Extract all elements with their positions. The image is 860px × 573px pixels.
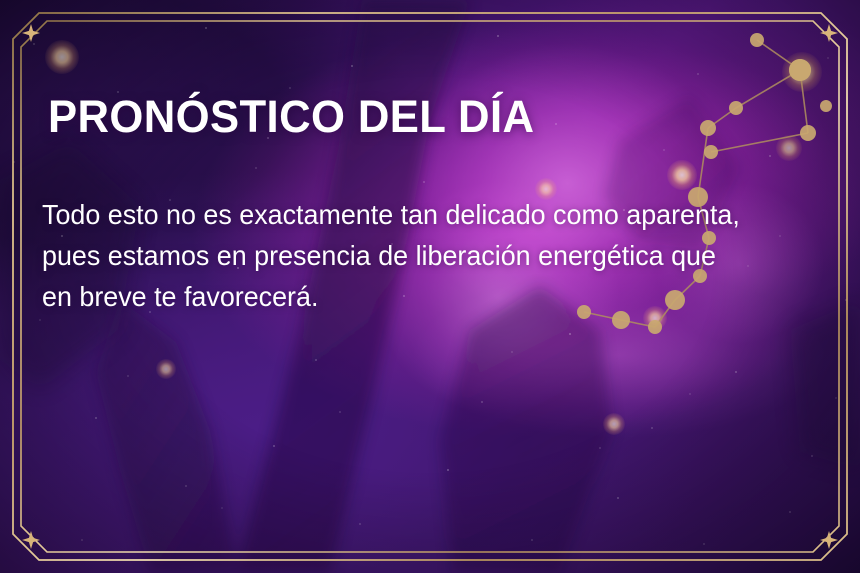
constellation-line xyxy=(757,40,800,70)
glow-star xyxy=(603,413,625,435)
glow-star xyxy=(782,52,822,92)
horoscope-card: PRONÓSTICO DEL DÍA Todo esto no es exact… xyxy=(0,0,860,573)
glow-star xyxy=(156,359,176,379)
sparkle-top-left-icon xyxy=(22,24,40,42)
sparkle-bottom-left-icon xyxy=(22,531,40,549)
card-content: PRONÓSTICO DEL DÍA Todo esto no es exact… xyxy=(48,92,788,317)
constellation-line xyxy=(621,320,655,327)
glow-star xyxy=(45,40,79,74)
constellation-node xyxy=(820,100,832,112)
constellation-node xyxy=(800,125,816,141)
forecast-body-text: Todo esto no es exactamente tan delicado… xyxy=(42,142,752,317)
sparkle-top-right-icon xyxy=(820,24,838,42)
constellation-node xyxy=(789,59,811,81)
constellation-line xyxy=(800,70,808,133)
constellation-node xyxy=(648,320,662,334)
constellation-node xyxy=(789,59,811,81)
constellation-node xyxy=(750,33,764,47)
sparkle-bottom-right-icon xyxy=(820,531,838,549)
page-title: PRONÓSTICO DEL DÍA xyxy=(48,92,766,142)
